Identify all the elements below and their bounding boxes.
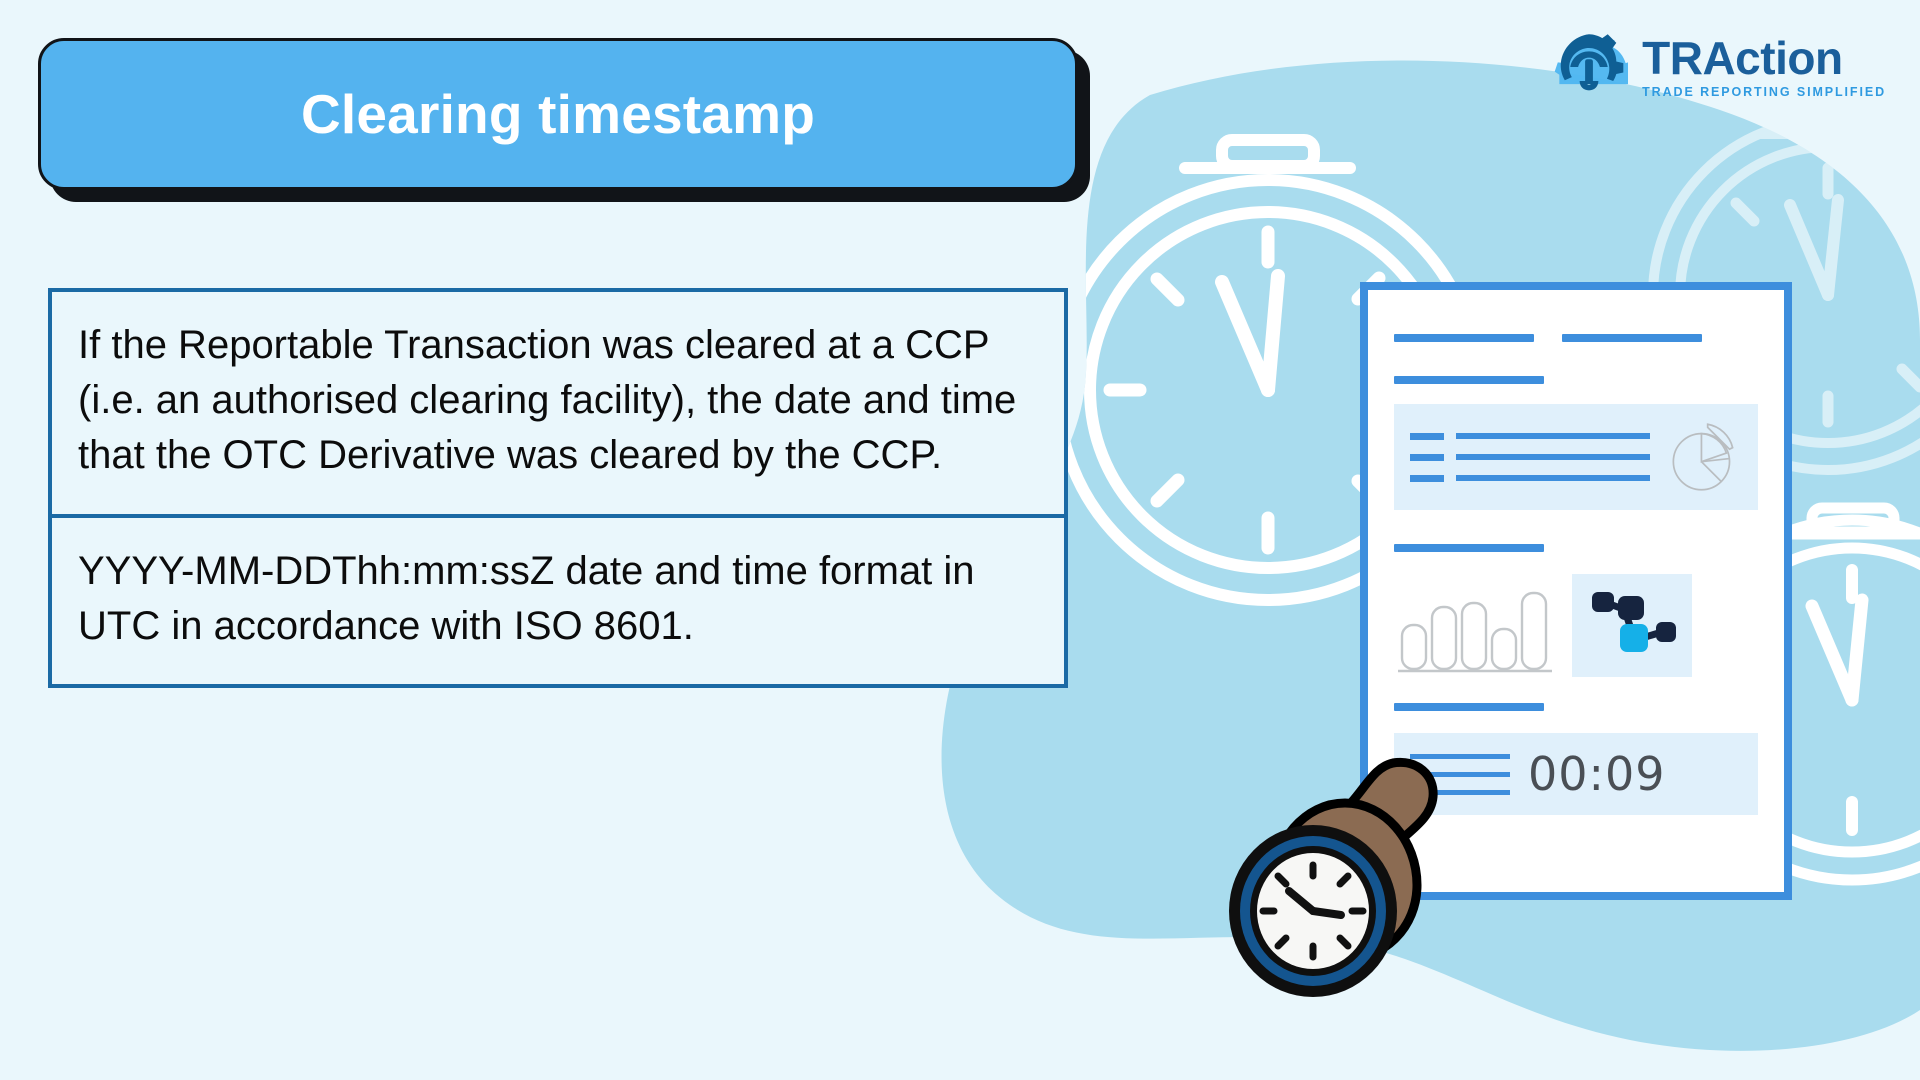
slide-canvas: Clearing timestamp TRAction TRADE REPORT…	[0, 0, 1920, 1080]
timer-value: 00:09	[1528, 747, 1666, 801]
doc-tile-lines	[1410, 433, 1650, 482]
doc-header-bars	[1394, 334, 1758, 342]
definition-text: If the Reportable Transaction was cleare…	[78, 318, 1038, 484]
bar-chart-icon	[1394, 585, 1554, 677]
doc-tile-pie	[1394, 404, 1758, 510]
doc-tile-network	[1572, 574, 1692, 677]
title-banner-plate: Clearing timestamp	[38, 38, 1078, 190]
traction-logo: TRAction TRADE REPORTING SIMPLIFIED	[1550, 28, 1886, 106]
doc-rule	[1456, 475, 1650, 481]
definition-block: If the Reportable Transaction was cleare…	[52, 292, 1064, 514]
doc-section-heading-bar	[1394, 544, 1544, 552]
page-title: Clearing timestamp	[301, 82, 815, 146]
doc-bar	[1394, 334, 1534, 342]
doc-line-row	[1410, 475, 1650, 482]
doc-rule	[1456, 433, 1650, 439]
doc-rule	[1456, 454, 1650, 460]
format-block: YYYY-MM-DDThh:mm:ssZ date and time forma…	[52, 518, 1064, 684]
doc-section-heading-bar	[1394, 376, 1544, 384]
title-banner: Clearing timestamp	[38, 38, 1078, 190]
doc-bar	[1562, 334, 1702, 342]
network-nodes-icon	[1582, 584, 1682, 662]
gear-arrow-icon	[1550, 28, 1628, 106]
logo-wordmark: TRAction TRADE REPORTING SIMPLIFIED	[1642, 35, 1886, 99]
doc-charts-row	[1394, 574, 1758, 677]
doc-line-row	[1410, 433, 1650, 440]
doc-section-heading-bar	[1394, 703, 1544, 711]
doc-dash	[1410, 454, 1444, 461]
logo-name: TRAction	[1642, 35, 1842, 81]
doc-line-row	[1410, 454, 1650, 461]
logo-tagline: TRADE REPORTING SIMPLIFIED	[1642, 85, 1886, 99]
doc-dash	[1410, 433, 1444, 440]
definition-card: If the Reportable Transaction was cleare…	[48, 288, 1068, 688]
clock-stamp-icon	[1195, 745, 1495, 1035]
pie-chart-icon	[1664, 418, 1742, 496]
format-text: YYYY-MM-DDThh:mm:ssZ date and time forma…	[78, 544, 1038, 654]
doc-dash	[1410, 475, 1444, 482]
